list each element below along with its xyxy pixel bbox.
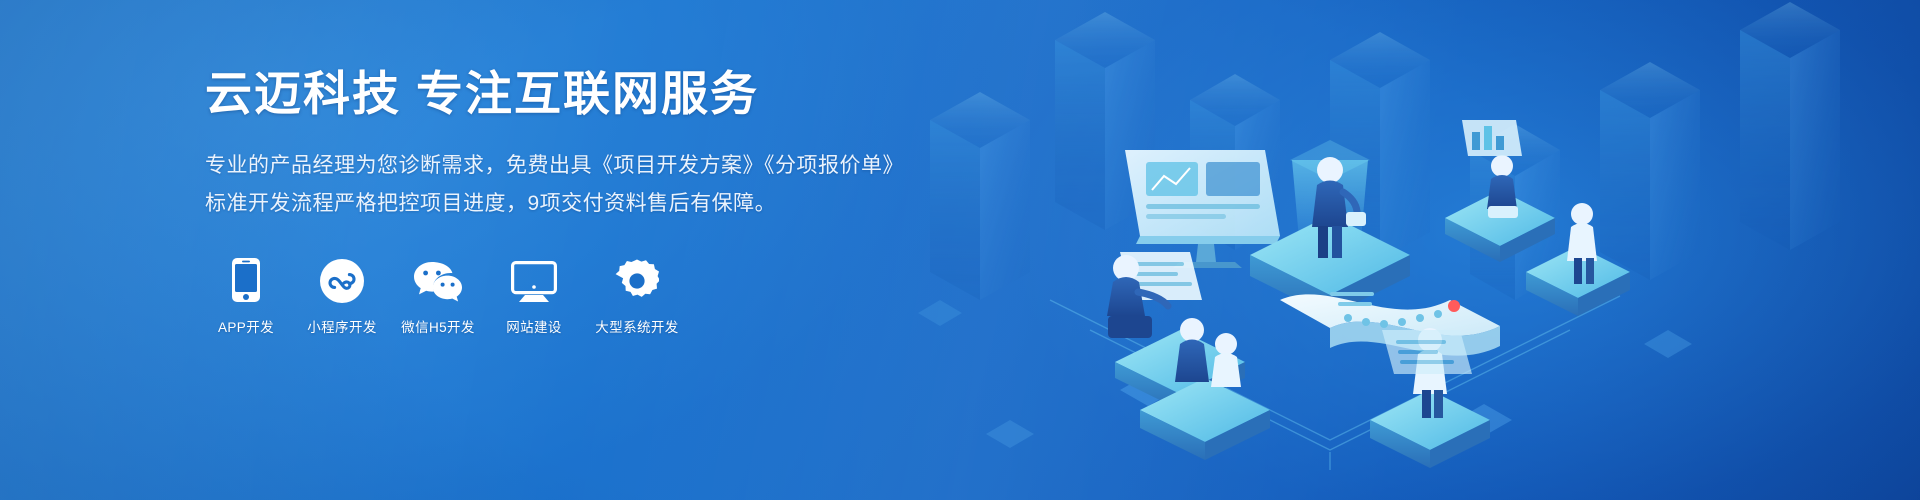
service-label-system: 大型系统开发 — [595, 316, 678, 336]
subtitle-line-1: 专业的产品经理为您诊断需求，免费出具《项目开发方案》《分项报价单》 — [205, 147, 905, 185]
service-item-website[interactable]: 网站建设 — [498, 257, 570, 336]
service-label-wechat: 微信H5开发 — [401, 316, 475, 336]
wechat-icon — [412, 257, 464, 303]
monitor-icon — [511, 257, 557, 303]
illustration-pedestal-right — [1445, 155, 1555, 262]
service-item-wechat[interactable]: 微信H5开发 — [402, 257, 474, 336]
hero-subtitle: 专业的产品经理为您诊断需求，免费出具《项目开发方案》《分项报价单》 标准开发流程… — [205, 147, 905, 223]
service-label-app: APP开发 — [218, 316, 274, 336]
illustration-monitor — [1125, 150, 1280, 268]
subtitle-line-2: 标准开发流程严格把控项目进度，9项交付资料售后有保障。 — [205, 185, 905, 223]
hero-banner: 云迈科技 专注互联网服务 专业的产品经理为您诊断需求，免费出具《项目开发方案》《… — [0, 0, 1920, 500]
page-title: 云迈科技 专注互联网服务 — [205, 66, 905, 121]
mobile-phone-icon — [231, 257, 261, 303]
service-label-miniprogram: 小程序开发 — [307, 316, 377, 336]
service-label-website: 网站建设 — [506, 316, 562, 336]
gear-icon — [615, 257, 659, 303]
service-item-app[interactable]: APP开发 — [210, 257, 282, 336]
hero-content: 云迈科技 专注互联网服务 专业的产品经理为您诊断需求，免费出具《项目开发方案》《… — [205, 66, 905, 336]
illustration-chart-card — [1462, 120, 1522, 156]
service-item-system[interactable]: 大型系统开发 — [594, 257, 680, 336]
illustration-floating-panel — [1382, 330, 1472, 374]
isometric-illustration — [1030, 0, 1790, 500]
service-icon-row: APP开发 小程序开发 — [210, 257, 905, 336]
mini-program-icon — [320, 257, 364, 303]
service-item-miniprogram[interactable]: 小程序开发 — [306, 257, 378, 336]
